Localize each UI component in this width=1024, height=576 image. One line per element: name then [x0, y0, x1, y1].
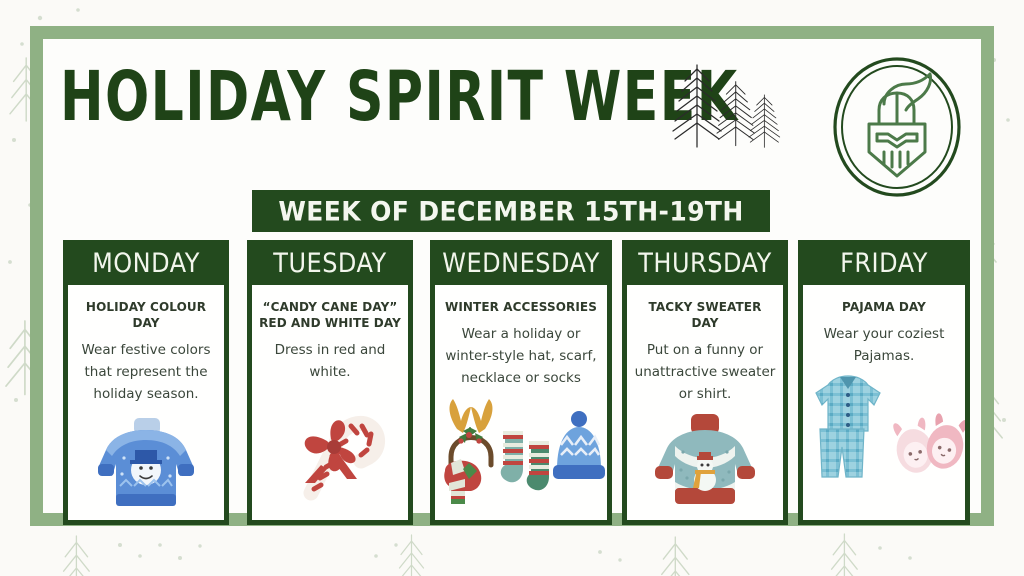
day-card-body: TACKY SWEATER DAY Put on a funny or unat…	[627, 285, 783, 520]
day-description: Wear a holiday or winter-style hat, scar…	[442, 323, 600, 389]
day-description: Wear festive colors that represent the h…	[74, 339, 218, 405]
day-theme-title: WINTER ACCESSORIES	[442, 299, 600, 315]
day-card-body: WINTER ACCESSORIES Wear a holiday or win…	[435, 285, 607, 520]
teal-snowman-sweater-icon	[635, 403, 775, 518]
day-card-body: HOLIDAY COLOUR DAY Wear festive colors t…	[68, 285, 224, 520]
day-card-wednesday[interactable]: WEDNESDAY WINTER ACCESSORIES Wear a holi…	[430, 240, 612, 525]
candy-cane-icon	[265, 381, 395, 501]
pine-trees-icon	[665, 57, 785, 157]
day-card-header: WEDNESDAY	[430, 237, 612, 287]
day-card-body: “CANDY CANE DAY” RED AND WHITE DAY Dress…	[252, 285, 408, 520]
blue-snowman-sweater-icon	[76, 403, 216, 518]
page-title: HOLIDAY SPIRIT WEEK	[60, 58, 637, 143]
day-cards-row: MONDAY HOLIDAY COLOUR DAY Wear festive c…	[0, 240, 1024, 525]
day-card-friday[interactable]: FRIDAY PAJAMA DAY Wear your coziest Paja…	[798, 240, 970, 525]
day-theme-title: TACKY SWEATER DAY	[633, 299, 777, 331]
day-description: Dress in red and white.	[258, 339, 402, 383]
day-card-header: TUESDAY	[247, 237, 413, 287]
pajamas-slippers-icon	[803, 365, 965, 485]
day-card-monday[interactable]: MONDAY HOLIDAY COLOUR DAY Wear festive c…	[63, 240, 229, 525]
day-card-thursday[interactable]: THURSDAY TACKY SWEATER DAY Put on a funn…	[622, 240, 788, 525]
day-theme-title: “CANDY CANE DAY” RED AND WHITE DAY	[258, 299, 402, 331]
day-theme-title: PAJAMA DAY	[809, 299, 958, 315]
day-card-tuesday[interactable]: TUESDAY “CANDY CANE DAY” RED AND WHITE D…	[247, 240, 413, 525]
day-card-header: THURSDAY	[622, 237, 788, 287]
day-theme-title: HOLIDAY COLOUR DAY	[74, 299, 218, 331]
holiday-spirit-week-poster: HOLIDAY SPIRIT WEEK	[0, 0, 1024, 576]
date-banner: WEEK OF DECEMBER 15TH-19TH	[252, 190, 770, 232]
day-card-body: PAJAMA DAY Wear your coziest Pajamas.	[803, 285, 965, 520]
day-description: Wear your coziest Pajamas.	[809, 323, 958, 367]
day-description: Put on a funny or unattractive sweater o…	[633, 339, 777, 405]
day-card-header: FRIDAY	[798, 237, 970, 287]
winter-accessories-icon	[435, 387, 607, 507]
knight-helmet-logo	[822, 52, 972, 202]
day-card-header: MONDAY	[63, 237, 229, 287]
date-banner-text: WEEK OF DECEMBER 15TH-19TH	[278, 195, 743, 226]
